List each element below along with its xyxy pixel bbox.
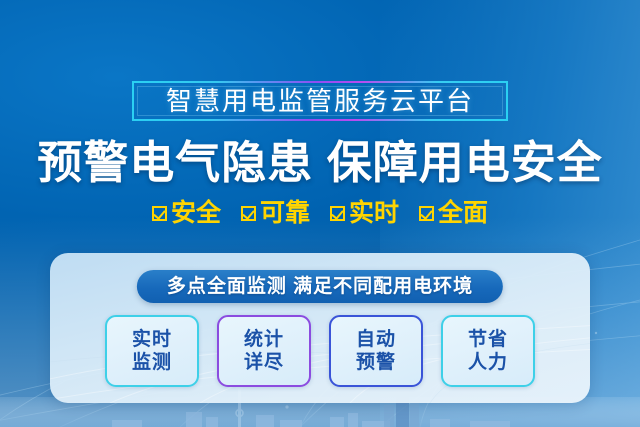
- feature-card-line2: 详尽: [244, 352, 284, 373]
- check-item-label: 可靠: [260, 201, 310, 226]
- feature-card-line1: 节省: [468, 329, 508, 350]
- subheading-pill-text: 多点全面监测 满足不同配用电环境: [167, 277, 473, 296]
- platform-title-box: 智慧用电监管服务云平台: [132, 81, 508, 121]
- check-item-label: 实时: [349, 201, 399, 226]
- feature-card-line2: 预警: [356, 352, 396, 373]
- feature-card-auto-alarm[interactable]: 自动 预警: [329, 315, 423, 387]
- subheading-pill: 多点全面监测 满足不同配用电环境: [137, 270, 503, 303]
- platform-title-text: 智慧用电监管服务云平台: [166, 88, 474, 114]
- feature-card-realtime-monitoring[interactable]: 实时 监测: [105, 315, 199, 387]
- checkbox-checked-icon: [241, 206, 256, 221]
- feature-check-list: 安全 可靠 实时 全面: [0, 201, 640, 226]
- feature-card-row: 实时 监测 统计 详尽 自动 预警 节省 人力: [50, 315, 590, 387]
- feature-card-line1: 统计: [244, 329, 284, 350]
- check-item-kekao: 可靠: [241, 201, 310, 226]
- checkbox-checked-icon: [330, 206, 345, 221]
- feature-card-save-manpower[interactable]: 节省 人力: [441, 315, 535, 387]
- check-item-quanmian: 全面: [419, 201, 488, 226]
- feature-card-line1: 自动: [356, 329, 396, 350]
- feature-card-line2: 人力: [468, 352, 508, 373]
- check-item-shishi: 实时: [330, 201, 399, 226]
- check-item-label: 全面: [438, 201, 488, 226]
- checkbox-checked-icon: [152, 206, 167, 221]
- feature-card-detailed-statistics[interactable]: 统计 详尽: [217, 315, 311, 387]
- feature-card-line1: 实时: [132, 329, 172, 350]
- checkbox-checked-icon: [419, 206, 434, 221]
- check-item-anquan: 安全: [152, 201, 221, 226]
- check-item-label: 安全: [171, 201, 221, 226]
- headline-text: 预警电气隐患 保障用电安全: [0, 140, 640, 185]
- feature-card-line2: 监测: [132, 352, 172, 373]
- poster-root: 智慧用电监管服务云平台 预警电气隐患 保障用电安全 安全 可靠 实时 全面: [0, 0, 640, 427]
